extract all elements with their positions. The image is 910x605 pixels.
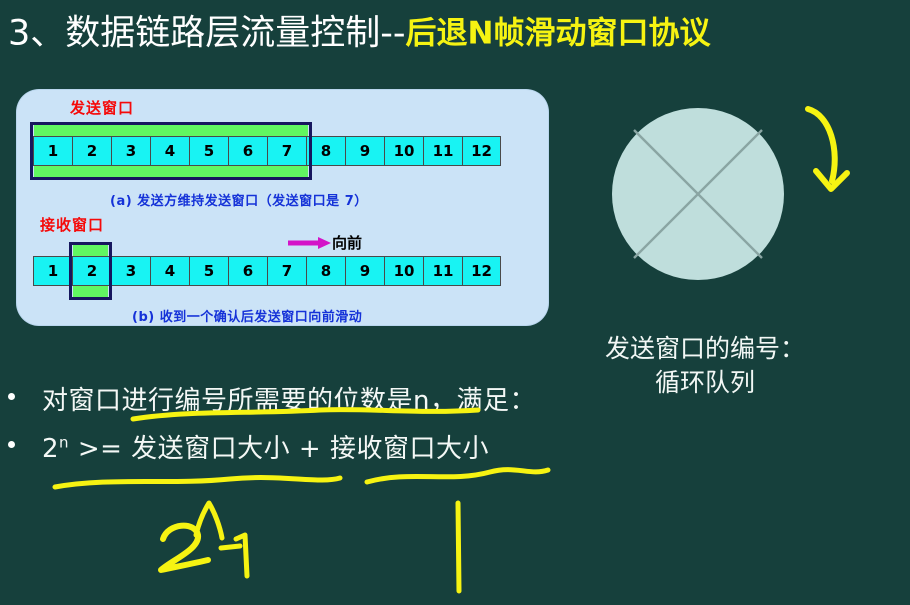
arrow-right-icon bbox=[288, 236, 332, 250]
frame-cell: 5 bbox=[189, 136, 228, 166]
receiver-window-fill-top bbox=[73, 245, 108, 256]
frame-cell: 11 bbox=[423, 256, 462, 286]
circle-caption-line-1: 发送窗口的编号： bbox=[590, 332, 820, 366]
title-accent-text: 后退N帧滑动窗口协议 bbox=[406, 16, 711, 52]
page-title: 3、数据链路层流量控制--后退N帧滑动窗口协议 bbox=[8, 8, 888, 58]
circular-queue-figure bbox=[612, 108, 784, 280]
bullet-text-2: 2n >= 发送窗口大小 + 接收窗口大小 bbox=[42, 434, 489, 464]
frame-cell: 8 bbox=[306, 136, 345, 166]
receiver-diagram-caption: (b) 收到一个确认后发送窗口向前滑动 bbox=[132, 306, 362, 325]
ink-underline-send-window bbox=[55, 478, 340, 487]
formula-exponent: n bbox=[59, 433, 69, 451]
bullet-item-1: 对窗口进行编号所需要的位数是n，满足： bbox=[8, 380, 536, 417]
frame-cell: 7 bbox=[267, 256, 306, 286]
frame-cell: 10 bbox=[384, 136, 423, 166]
receiver-frame-strip: 1 2 3 4 5 6 7 8 9 10 11 12 bbox=[33, 256, 501, 286]
ink-minus-sign bbox=[221, 546, 240, 548]
ink-vertical-stroke bbox=[458, 503, 459, 591]
frame-cell: 2 bbox=[72, 136, 111, 166]
sender-window-fill-bottom bbox=[34, 166, 308, 177]
frame-cell: 4 bbox=[150, 136, 189, 166]
slide-canvas: 3、数据链路层流量控制--后退N帧滑动窗口协议 发送窗口 1 2 3 4 5 6… bbox=[0, 0, 910, 605]
curved-arrow-down-icon bbox=[800, 95, 910, 205]
title-main-text: 3、数据链路层流量控制-- bbox=[8, 14, 406, 54]
circular-queue-caption: 发送窗口的编号： 循环队列 bbox=[590, 332, 820, 400]
bullet-dot-icon bbox=[8, 393, 15, 400]
receiver-window-label: 接收窗口 bbox=[40, 214, 104, 235]
frame-cell: 4 bbox=[150, 256, 189, 286]
ink-digit-one bbox=[236, 535, 247, 576]
frame-cell: 1 bbox=[33, 136, 72, 166]
formula-base: 2 bbox=[42, 434, 59, 464]
sender-frame-strip: 1 2 3 4 5 6 7 8 9 10 11 12 bbox=[33, 136, 501, 166]
bullet-dot-icon bbox=[8, 441, 15, 448]
forward-direction-group: 向前 bbox=[288, 232, 398, 256]
frame-cell: 3 bbox=[111, 136, 150, 166]
ink-underline-recv-window bbox=[367, 470, 548, 482]
frame-cell: 1 bbox=[33, 256, 72, 286]
frame-cell: 8 bbox=[306, 256, 345, 286]
frame-cell: 7 bbox=[267, 136, 306, 166]
frame-cell: 2 bbox=[72, 256, 111, 286]
frame-cell: 12 bbox=[462, 136, 501, 166]
circle-caption-line-2: 循环队列 bbox=[590, 366, 820, 400]
frame-cell: 12 bbox=[462, 256, 501, 286]
frame-cell: 9 bbox=[345, 136, 384, 166]
ink-exponent-n bbox=[196, 503, 222, 538]
formula-rest: >= 发送窗口大小 + 接收窗口大小 bbox=[69, 434, 489, 464]
frame-cell: 6 bbox=[228, 256, 267, 286]
bullet-text-1: 对窗口进行编号所需要的位数是n，满足： bbox=[42, 386, 536, 416]
sender-diagram-caption: (a) 发送方维持发送窗口（发送窗口是 7） bbox=[110, 190, 368, 209]
frame-cell: 3 bbox=[111, 256, 150, 286]
frame-cell: 9 bbox=[345, 256, 384, 286]
sender-window-label: 发送窗口 bbox=[70, 97, 134, 118]
ink-digit-two bbox=[161, 526, 208, 570]
frame-cell: 10 bbox=[384, 256, 423, 286]
bullet-item-2: 2n >= 发送窗口大小 + 接收窗口大小 bbox=[8, 428, 489, 465]
frame-cell: 11 bbox=[423, 136, 462, 166]
frame-cell: 5 bbox=[189, 256, 228, 286]
forward-direction-label: 向前 bbox=[332, 232, 362, 253]
receiver-window-fill-bottom bbox=[73, 286, 108, 297]
cross-lines-icon bbox=[612, 108, 784, 280]
frame-cell: 6 bbox=[228, 136, 267, 166]
sender-window-fill-top bbox=[34, 125, 308, 136]
